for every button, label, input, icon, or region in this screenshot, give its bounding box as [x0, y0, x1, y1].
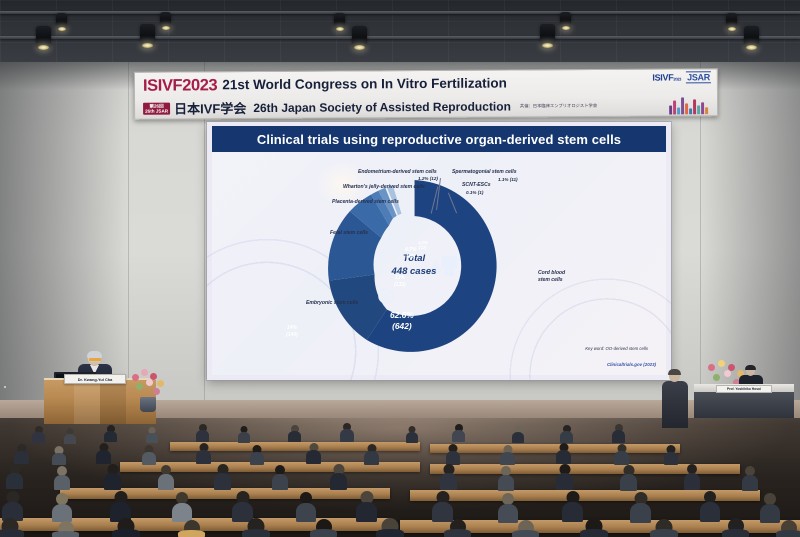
audience-member [684, 464, 700, 490]
value-embryonic-count: (144) [286, 332, 298, 339]
audience-member [340, 423, 354, 442]
value-embryonic: 14% (144) [286, 325, 298, 338]
audience-member [0, 518, 24, 537]
audience-member [306, 443, 321, 464]
stage-spotlight-icon [140, 24, 155, 45]
audience-member [512, 426, 524, 443]
value-placenta-count: (48) [405, 254, 416, 261]
audience-member [242, 518, 270, 537]
audience-member [614, 444, 629, 465]
audience-member [178, 520, 205, 537]
banner-sub-title: 26th Japan Society of Assisted Reproduct… [253, 100, 511, 114]
audience-member [32, 426, 45, 443]
audience-area [0, 398, 800, 537]
congress-banner: ISIVF2023 21st World Congress on In Vitr… [134, 68, 718, 120]
audience-desk [430, 444, 680, 453]
blastocyst-icon [379, 289, 393, 303]
audience-member [356, 491, 377, 522]
audience-member [664, 445, 678, 465]
label-endometrium: Endometrium-derived stem cells [358, 169, 437, 175]
audience-member [142, 445, 156, 465]
audience-member [630, 492, 651, 523]
audience-member [310, 519, 337, 537]
label-embryonic: Embryonic stem cells [306, 300, 358, 306]
audience-member [52, 521, 79, 537]
value-fetal-pct: 13% [394, 275, 406, 282]
jsar-logo-icon: JSAR [686, 71, 711, 83]
value-cord-blood-pct: 62.6% [390, 310, 414, 321]
audience-member [498, 493, 518, 523]
audience-member [52, 446, 66, 465]
audience-member [158, 465, 174, 490]
speaker-glasses-icon [89, 358, 101, 361]
stage-spotlight-icon [352, 26, 367, 47]
lighting-truss-upper [0, 11, 800, 14]
audience-member [288, 425, 301, 442]
value-scnt-escs: 0.1% (1) [466, 190, 483, 196]
audience-member [500, 445, 515, 465]
ceiling [0, 0, 800, 62]
audience-member [172, 492, 192, 522]
value-cord-blood-count: (642) [390, 321, 414, 332]
panel-member-hair [745, 365, 756, 370]
value-embryonic-pct: 14% [286, 325, 298, 332]
placenta-icon [389, 233, 404, 240]
umbilical-cord-icon [402, 220, 406, 228]
audience-member [364, 444, 379, 465]
audience-member [612, 424, 625, 443]
audience-member [238, 426, 250, 443]
audience-member [96, 443, 111, 464]
audience-member [440, 464, 457, 490]
lens-artifact [4, 386, 6, 388]
audience-member [580, 518, 608, 537]
banner-jp-society: 日本IVF学会 [174, 102, 246, 115]
isivf-logo-icon: ISIVF2023 [652, 72, 681, 82]
audience-member [6, 464, 23, 489]
speaker-hair [87, 351, 102, 358]
value-placenta: 4.7% (48) [405, 247, 416, 260]
value-spermatogonial: 1.1% (11) [498, 177, 518, 183]
panel-nameplate: Prof. Yoshihiko Hosoi [716, 385, 772, 393]
audience-member [52, 493, 72, 522]
stage-spotlight-icon [36, 26, 51, 47]
value-endometrium: 1.2% (12) [418, 176, 438, 182]
audience-member [104, 464, 121, 490]
banner-jp-badge-line2: 26th JSAR [145, 109, 168, 114]
banner-row-secondary: 第26回 26th JSAR 日本IVF学会 26th Japan Societ… [143, 94, 709, 119]
label-cord-blood: Cord blood stem cells [538, 270, 565, 285]
stage-spotlight-icon [56, 13, 67, 28]
stage-spotlight-icon [726, 13, 737, 28]
audience-member [214, 464, 231, 490]
label-cord-blood-line2: stem cells [538, 277, 565, 284]
stage-spotlight-icon [160, 12, 171, 27]
audience-member [196, 443, 211, 464]
chart-keyword-note: Key word: OO-derived stem cells [585, 346, 648, 351]
banner-row-primary: ISIVF2023 21st World Congress on In Vitr… [143, 70, 709, 97]
stage-spotlight-icon [334, 13, 345, 28]
audience-member [196, 424, 209, 442]
audience-member [406, 426, 418, 443]
value-fetal-count: (133) [394, 282, 406, 289]
banner-logo-group: ISIVF2023 JSAR [652, 71, 711, 83]
banner-joint-note: 共催：日本臨床エンブリオロジスト学会 [520, 103, 597, 109]
audience-member [650, 519, 678, 537]
audience-member [112, 518, 140, 537]
audience-member [722, 518, 749, 537]
value-placenta-pct: 4.7% [405, 247, 416, 254]
audience-member [64, 428, 76, 444]
stage-spotlight-icon [744, 26, 759, 47]
label-fetal: Fetal stem cells [330, 230, 368, 236]
audience-member [512, 520, 539, 537]
audience-member [742, 466, 758, 491]
audience-member [54, 466, 70, 490]
audience-member [296, 492, 316, 522]
audience-member [560, 425, 573, 443]
banner-jp-badge: 第26回 26th JSAR [143, 102, 170, 115]
audience-member [146, 427, 158, 443]
audience-member [446, 444, 460, 465]
audience-member [776, 520, 800, 537]
audience-member [556, 464, 573, 490]
lighting-truss-lower [0, 36, 800, 39]
audience-member [376, 518, 404, 537]
donut-chart: Total 448 cases 62.6% (642) 14% (144) [212, 152, 666, 375]
standing-attendee-hair [668, 369, 681, 375]
value-whartons-jelly: 1.2% (12) [418, 240, 428, 251]
audience-member [556, 443, 571, 464]
presentation-slide: Clinical trials using reproductive organ… [212, 126, 666, 375]
audience-member [14, 444, 29, 464]
audience-member [700, 491, 720, 522]
value-whartons-jelly-count: (12) [418, 245, 428, 250]
audience-member [432, 491, 453, 522]
audience-member [272, 465, 288, 490]
label-placenta: Placenta-derived stem cells [332, 199, 399, 205]
audience-member [250, 445, 264, 465]
audience-member [2, 491, 23, 521]
stage-spotlight-icon [540, 24, 555, 45]
audience-member [452, 424, 465, 442]
audience-member [620, 465, 637, 491]
chart-source-citation: Clinicaltrials.gov (2023) [607, 362, 656, 367]
audience-member [330, 464, 347, 490]
label-scnt-escs: SCNT-ESCs [462, 182, 491, 188]
banner-isivf-logotype: ISIVF2023 [143, 77, 217, 94]
value-cord-blood: 62.6% (642) [390, 310, 414, 332]
label-whartons-jelly: Wharton's jelly-derived stem cells [343, 184, 425, 190]
audience-member [760, 493, 780, 523]
banner-main-title: 21st World Congress on In Vitro Fertiliz… [222, 77, 507, 92]
stage-spotlight-icon [560, 12, 571, 27]
audience-member [498, 466, 514, 491]
label-cord-blood-line1: Cord blood [538, 270, 565, 277]
ceiling-grid [0, 0, 800, 62]
conference-hall-photo: ISIVF2023 21st World Congress on In Vitr… [0, 0, 800, 537]
podium-nameplate: Dr. Kwang-Yul Cha [64, 374, 126, 384]
value-fetal: 13% (133) [394, 275, 406, 288]
label-spermatogonial: Spermatogonial stem cells [452, 169, 517, 175]
banner-cityscape-graphic [669, 94, 713, 114]
audience-member [444, 519, 471, 537]
slide-title: Clinical trials using reproductive organ… [212, 126, 666, 152]
projection-screen: Clinical trials using reproductive organ… [207, 122, 671, 380]
audience-member [104, 425, 117, 442]
